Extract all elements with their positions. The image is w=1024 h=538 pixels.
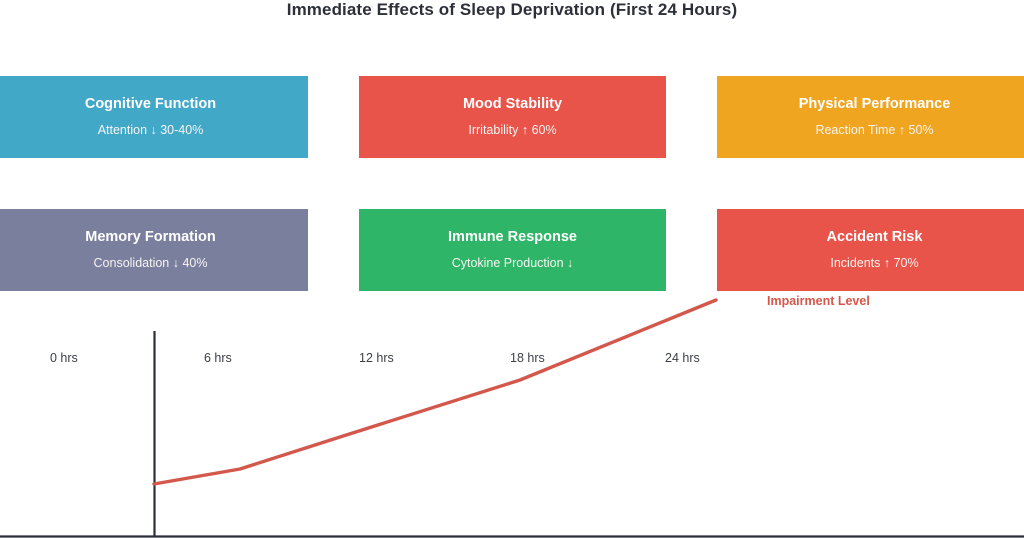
stat-card-title: Immune Response [448, 230, 577, 246]
stat-card-memory-formation[interactable]: Memory Formation Consolidation ↓ 40% [0, 209, 308, 291]
impairment-level-line [154, 300, 716, 484]
x-tick-label-0-hrs: 0 hrs [50, 351, 78, 365]
stat-card-mood-stability[interactable]: Mood Stability Irritability ↑ 60% [359, 76, 666, 158]
stat-card-metric: Consolidation ↓ 40% [94, 257, 208, 271]
stat-card-metric: Attention ↓ 30-40% [98, 124, 204, 138]
stat-card-title: Physical Performance [799, 97, 951, 113]
impairment-line-chart: 0 hrs 6 hrs 12 hrs 18 hrs 24 hrs [0, 291, 1024, 538]
stat-card-title: Cognitive Function [85, 97, 216, 113]
stat-card-physical-performance[interactable]: Physical Performance Reaction Time ↑ 50% [717, 76, 1024, 158]
stat-card-accident-risk[interactable]: Accident Risk Incidents ↑ 70% [717, 209, 1024, 291]
stat-card-cognitive-function[interactable]: Cognitive Function Attention ↓ 30-40% [0, 76, 308, 158]
x-tick-label-6-hrs: 6 hrs [204, 351, 232, 365]
stat-card-title: Accident Risk [827, 230, 923, 246]
x-tick-label-24-hrs: 24 hrs [665, 351, 700, 365]
page-title: Immediate Effects of Sleep Deprivation (… [0, 0, 1024, 20]
stat-card-title: Memory Formation [85, 230, 216, 246]
stat-card-metric: Incidents ↑ 70% [830, 257, 918, 271]
stat-card-metric: Cytokine Production ↓ [452, 257, 574, 271]
stat-card-immune-response[interactable]: Immune Response Cytokine Production ↓ [359, 209, 666, 291]
chart-svg [0, 291, 1024, 538]
x-tick-label-12-hrs: 12 hrs [359, 351, 394, 365]
stat-card-title: Mood Stability [463, 97, 562, 113]
stat-card-metric: Irritability ↑ 60% [468, 124, 556, 138]
stat-card-metric: Reaction Time ↑ 50% [815, 124, 933, 138]
x-tick-label-18-hrs: 18 hrs [510, 351, 545, 365]
